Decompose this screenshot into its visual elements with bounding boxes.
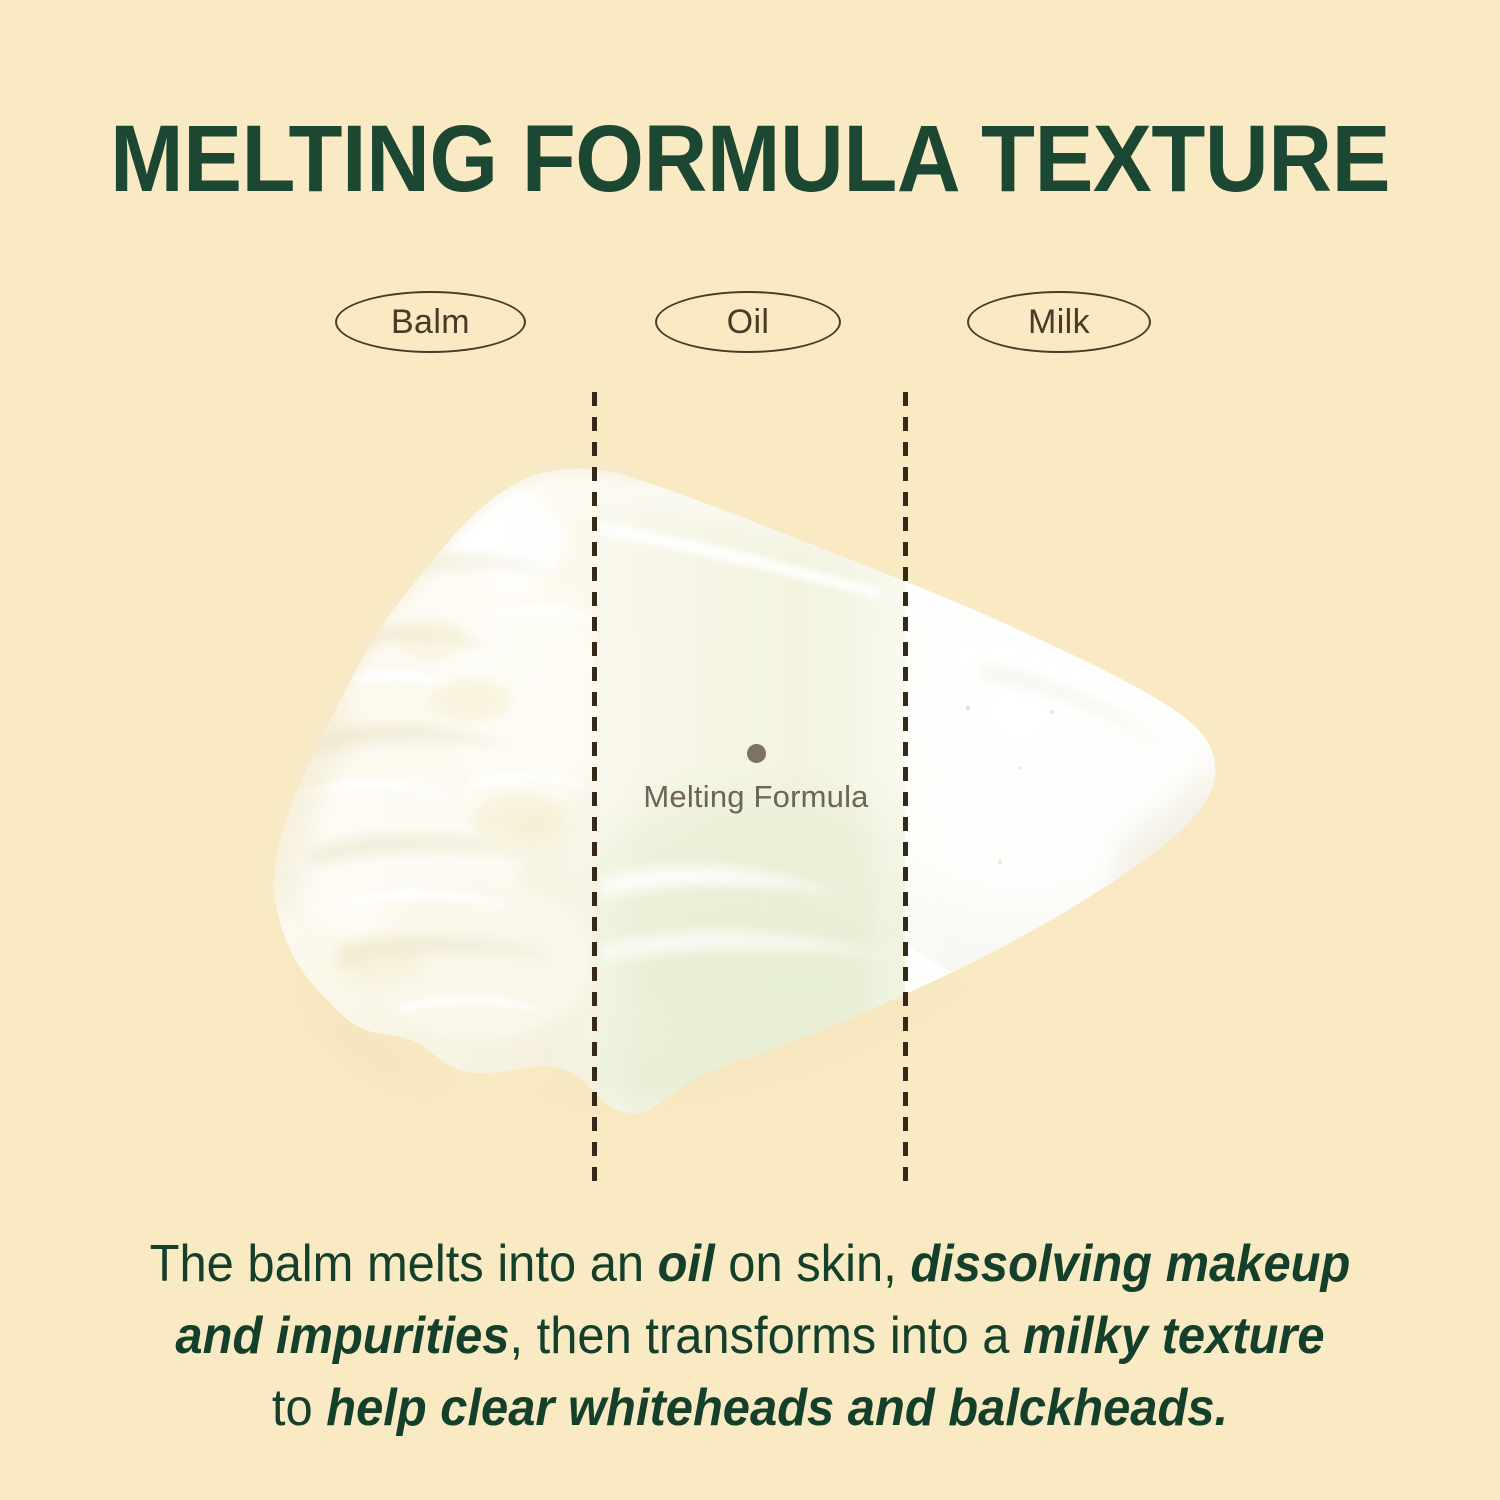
annotation-dot-icon: [747, 744, 766, 763]
annotation-label: Melting Formula: [596, 779, 916, 815]
poster-canvas: MELTING FORMULA TEXTURE Balm Oil Milk: [0, 0, 1500, 1500]
